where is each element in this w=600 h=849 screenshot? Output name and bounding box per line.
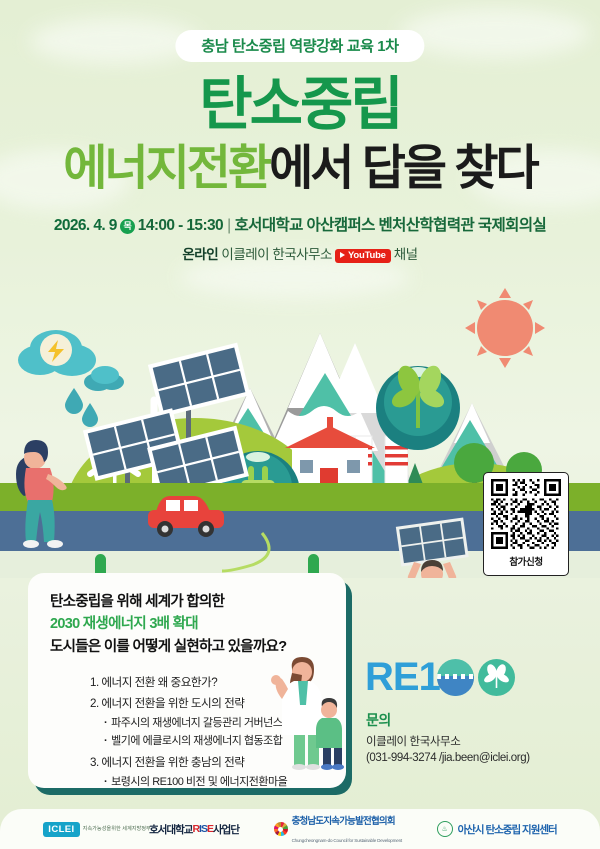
logo-chungnam-council: 충청남도지속가능발전협의회 Chungcheongnam-do Council … [274,811,402,847]
contact-block: 문의 이클레이 한국사무소 (031-994-3274 /jia.been@ic… [366,710,530,764]
contact-title: 문의 [366,710,530,730]
youtube-icon[interactable]: YouTube [335,249,391,263]
subtitle-green-part: 에너지전환 [63,142,269,195]
asan-emblem-icon: ♨ [437,821,453,837]
re100-logo: RE1 [365,657,515,697]
hoseo-suffix: 사업단 [213,822,239,837]
event-series-badge: 충남 탄소중립 역량강화 교육 1차 [175,30,424,62]
headline-line-2: 2030 재생에너지 3배 확대 [50,613,286,635]
schedule-line: 2026. 4. 9목14:00 - 15:30|호서대학교 아산캠퍼스 벤처산… [0,213,600,235]
schedule-separator: | [227,217,230,234]
online-channel: 이클레이 한국사무소 [221,247,332,262]
cloud-decoration [400,8,590,58]
headline-line-3: 도시들은 이를 어떻게 실현하고 있을까요? [50,636,286,658]
page-subtitle: 에너지전환에서 답을 찾다 [0,145,600,193]
online-label: 온라인 [182,247,218,262]
cloud-decoration [30,18,200,64]
page-title: 탄소중립 [0,76,600,134]
qr-code-card[interactable]: 참가신청 [483,472,569,576]
re100-text: RE1 [365,657,440,697]
footer-logos: ICLEI 지속가능성을위한 세계지방정부 호서대학교RISE사업단 충청남도지… [0,809,600,849]
chungnam-name: 충청남도지속가능발전협의회 [292,816,395,827]
logo-hoseo-rise: 호서대학교RISE사업단 [149,822,239,837]
qr-code-image [491,479,561,549]
hoseo-prefix: 호서대학교 [149,822,192,837]
event-time: 14:00 - 15:30 [138,217,223,234]
subtitle-black-part: 에서 답을 찾다 [269,142,537,195]
qr-label: 참가신청 [484,554,568,568]
sdg-wheel-icon [274,822,288,836]
online-line: 온라인 이클레이 한국사무소YouTube채널 [0,243,600,263]
electric-car-icon [148,496,224,537]
event-venue: 호서대학교 아산캠퍼스 벤처산학협력관 국제회의실 [235,217,547,234]
logo-iclei: ICLEI 지속가능성을위한 세계지방정부 [43,822,114,837]
iclei-wordmark: ICLEI [43,822,79,837]
asan-name: 아산시 탄소중립 지원센터 [458,822,557,837]
card-headline: 탄소중립을 위해 세계가 합의한 2030 재생에너지 3배 확대 도시들은 이… [50,591,286,658]
contact-org: 이클레이 한국사무소 [366,733,530,749]
contact-detail: (031-994-3274 /jia.been@iclei.org) [366,752,530,764]
re100-leaf-circle-icon [478,659,515,696]
day-badge: 목 [120,219,135,234]
woman-and-child-illustration [262,655,346,770]
youtube-suffix: 채널 [394,247,418,262]
program-sub-list: 보령시의 RE100 비전 및 에너지전환마을 [90,775,340,791]
chungnam-subtitle: Chungcheongnam-do Council for Sustainabl… [292,838,402,843]
poster-root: 충남 탄소중립 역량강화 교육 1차 탄소중립 에너지전환에서 답을 찾다 20… [0,0,600,849]
logo-asan-center: ♨ 아산시 탄소중립 지원센터 [437,821,557,837]
scientist-holding-panel-illustration [396,517,469,578]
headline-line-1: 탄소중립을 위해 세계가 합의한 [50,591,286,613]
event-date: 2026. 4. 9 [54,217,117,234]
rise-r: R [192,823,199,835]
re100-water-circle-icon [437,659,474,696]
iclei-subtitle: 지속가능성을위한 세계지방정부 [83,826,115,833]
youtube-label: YouTube [348,250,386,261]
program-sub-item: 보령시의 RE100 비전 및 에너지전환마을 [104,775,340,791]
person-walking-illustration [16,440,67,548]
